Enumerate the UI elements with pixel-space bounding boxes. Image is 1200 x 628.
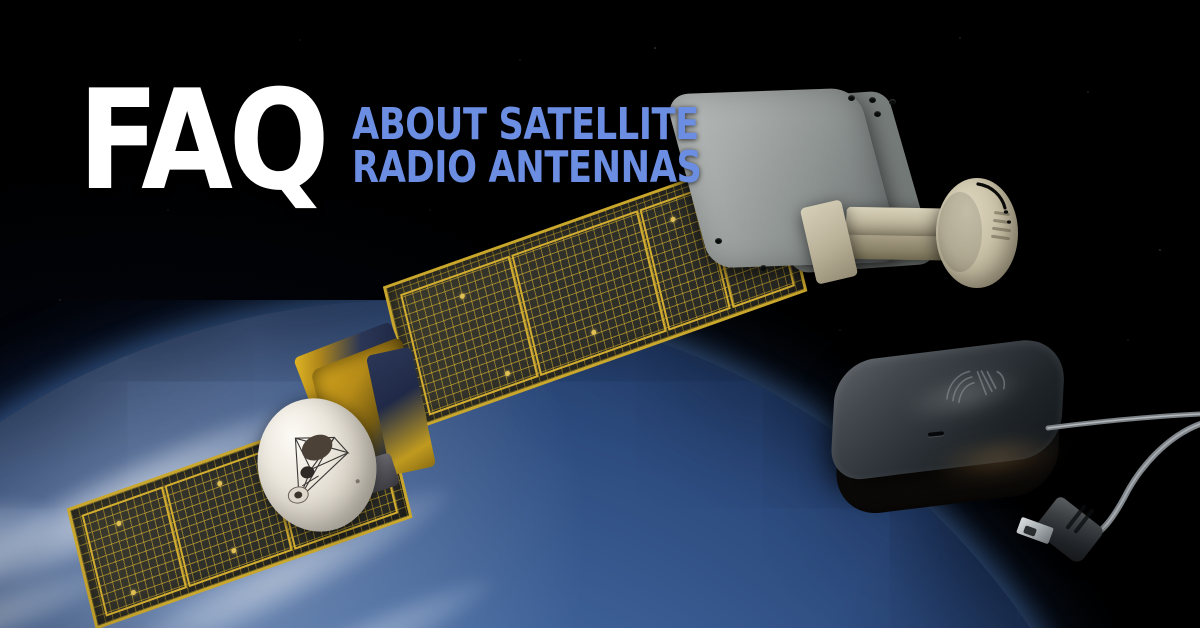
faq-banner: FAQ ABOUT SATELLITE RADIO ANTENNAS	[0, 0, 1200, 628]
subtitle-line-2: RADIO ANTENNAS	[352, 147, 702, 190]
headline-block: FAQ ABOUT SATELLITE RADIO ANTENNAS	[78, 78, 788, 205]
page-title-faq: FAQ	[78, 78, 325, 205]
headline-subtitle: ABOUT SATELLITE RADIO ANTENNAS	[352, 78, 789, 189]
subtitle-line-1: ABOUT SATELLITE	[352, 104, 702, 147]
